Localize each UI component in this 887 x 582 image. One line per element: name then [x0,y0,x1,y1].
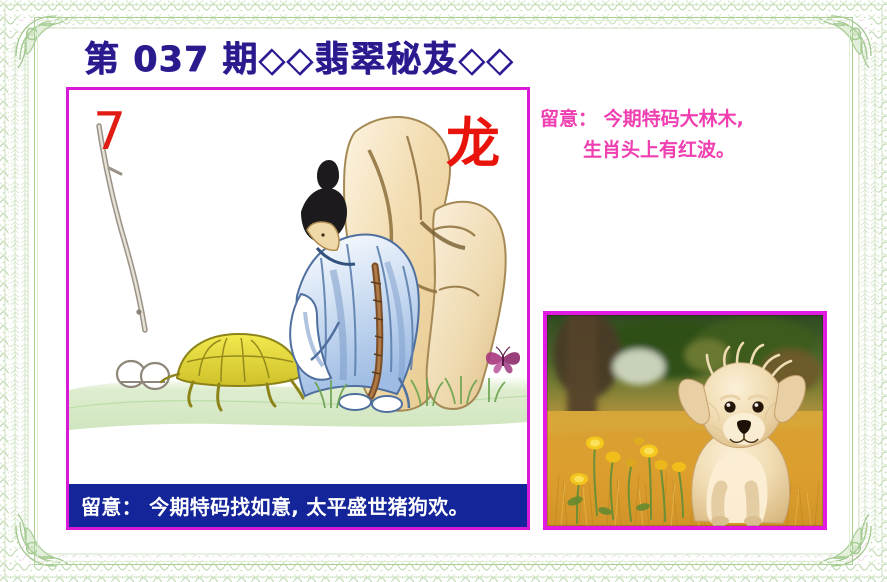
lucky-number: 7 [93,106,126,158]
side-note: 留意： 今期特码大林木, 生肖头上有红波。 [540,104,860,166]
page-title: 第 037 期◇◇翡翠秘芨◇◇ [84,31,514,82]
bottom-note-banner: 留意： 今期特码找如意, 太平盛世猪狗欢。 [69,484,527,527]
zodiac-label: 龙 [446,117,500,171]
bottom-note-text: 留意： 今期特码找如意, 太平盛世猪狗欢。 [69,491,469,520]
puppy-photo [547,315,823,526]
lottery-poster: 第 037 期◇◇翡翠秘芨◇◇ [0,0,887,582]
side-note-line-1: 留意： 今期特码大林木, [540,104,860,135]
puppy-photo-panel [543,311,827,530]
side-note-line-2: 生肖头上有红波。 [540,135,860,166]
